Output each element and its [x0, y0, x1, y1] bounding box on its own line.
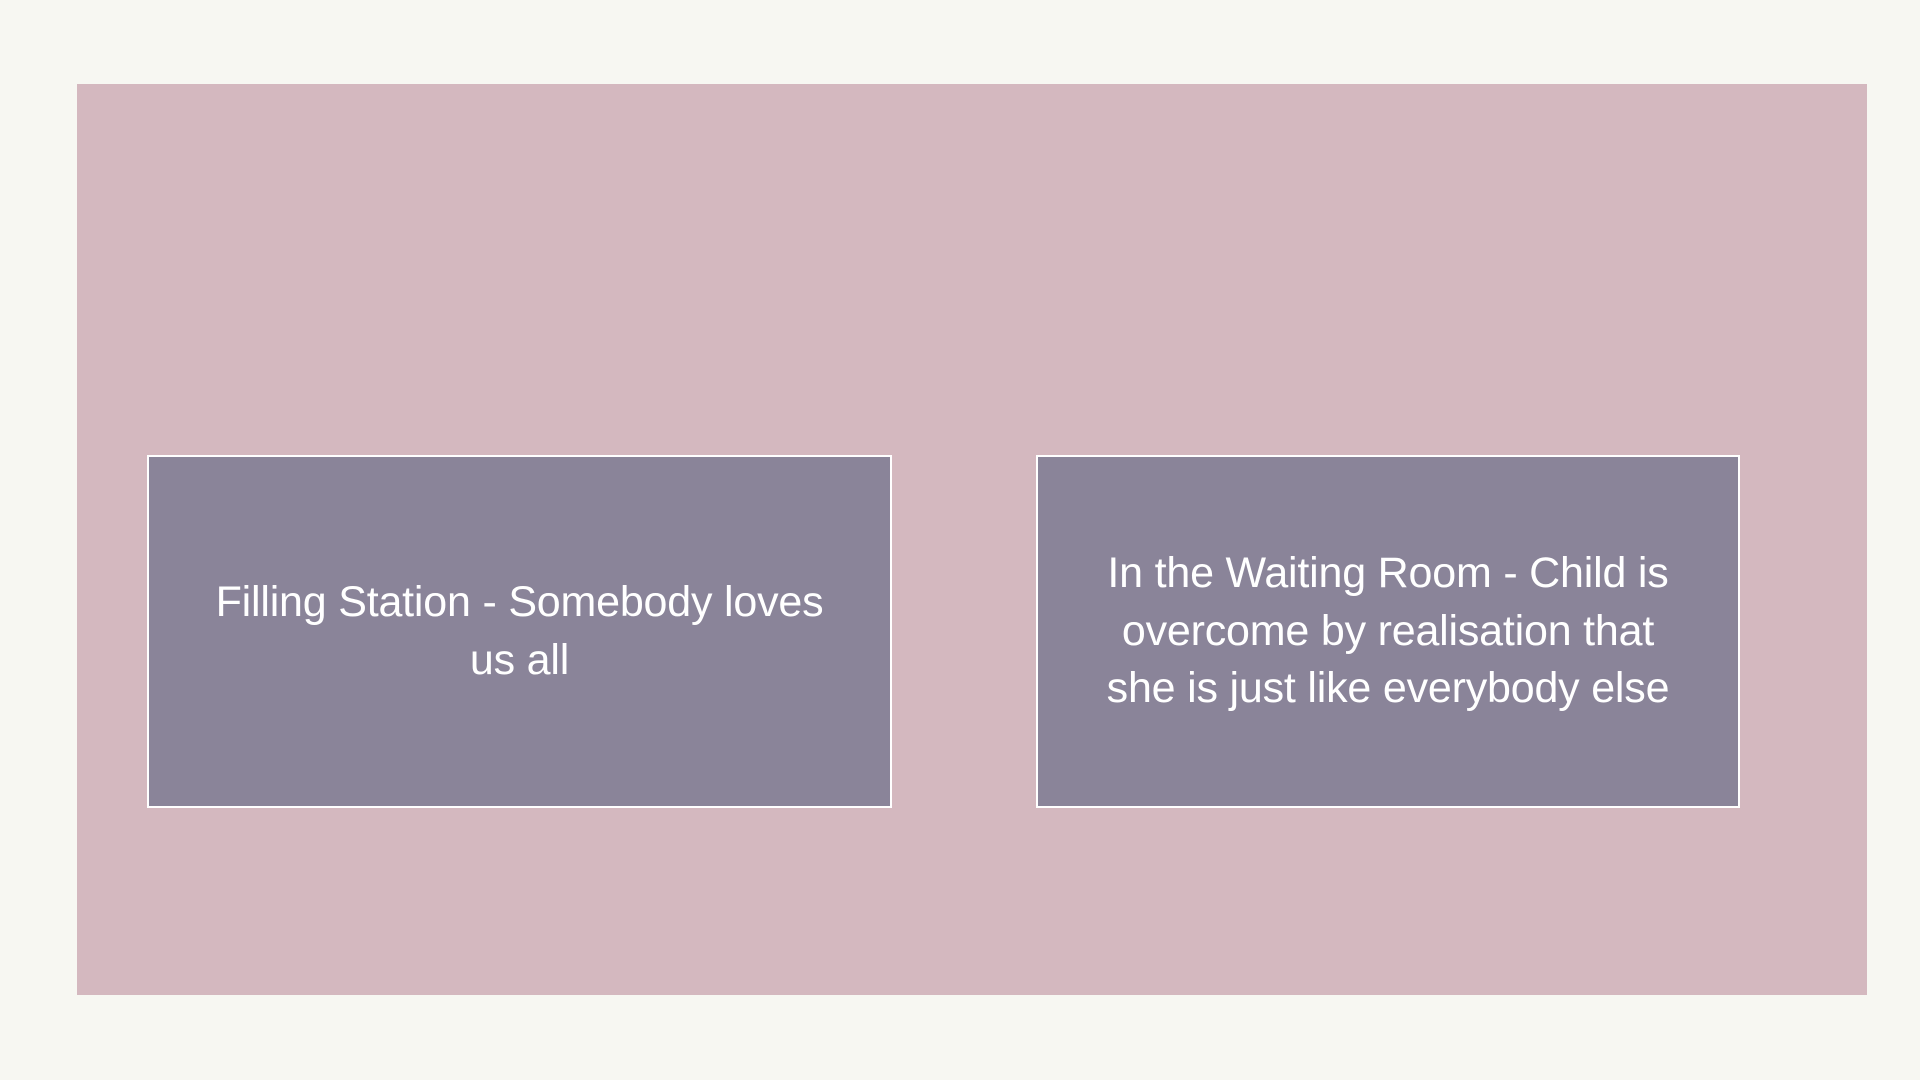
text-card-waiting-room[interactable]: In the Waiting Room - Child is overcome …	[1036, 455, 1740, 808]
slide-panel: Filling Station - Somebody loves us all …	[77, 84, 1867, 995]
text-card-waiting-room-label: In the Waiting Room - Child is overcome …	[1083, 545, 1693, 718]
text-card-filling-station[interactable]: Filling Station - Somebody loves us all	[147, 455, 892, 808]
text-card-filling-station-label: Filling Station - Somebody loves us all	[210, 574, 830, 689]
